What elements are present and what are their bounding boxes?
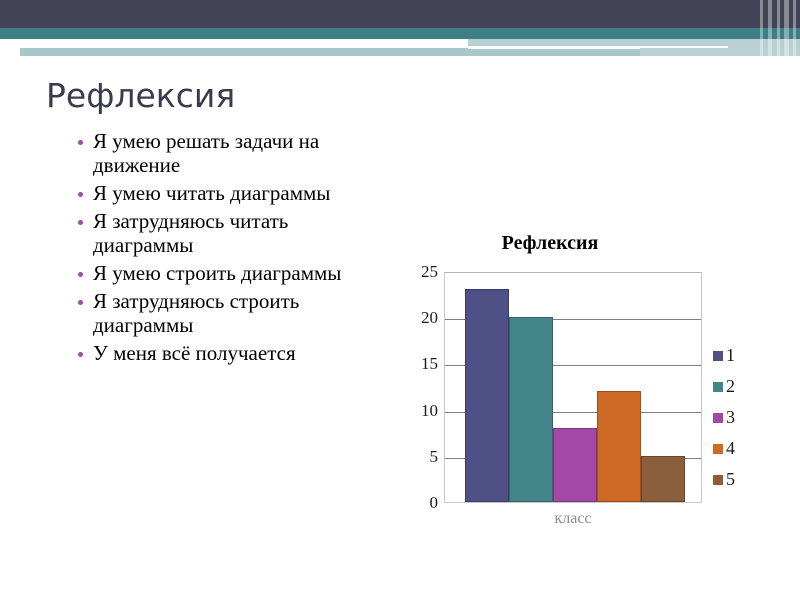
y-axis-tick-label: 20 [400, 308, 438, 328]
list-item-text: Я затрудняюсь читать диаграммы [93, 209, 288, 257]
list-item: Я затрудняюсь строить диаграммы [78, 290, 390, 338]
bullet-dot-icon [78, 300, 83, 305]
bullet-dot-icon [78, 220, 83, 225]
page-title: Рефлексия [46, 76, 235, 115]
list-item: У меня всё получается [78, 342, 390, 366]
x-axis-label: класс [444, 510, 702, 528]
header-band-pale-tail [640, 48, 800, 56]
legend-item: 1 [713, 340, 735, 371]
header-stripe-4 [784, 0, 789, 62]
header-band-bottom-white [0, 56, 740, 62]
legend-swatch [713, 475, 723, 485]
legend-label: 2 [726, 376, 735, 397]
header-band-white-strip [0, 39, 468, 48]
legend-swatch [713, 413, 723, 423]
chart-title: Рефлексия [400, 232, 700, 255]
bar [641, 456, 685, 502]
list-item-text: Я умею решать задачи на движение [93, 129, 319, 177]
legend-label: 5 [726, 469, 735, 490]
header-stripe-2 [768, 0, 772, 62]
legend-item: 3 [713, 402, 735, 433]
list-item-text: Я затрудняюсь строить диаграммы [93, 289, 299, 337]
y-axis-tick-label: 15 [400, 354, 438, 374]
header-stripe-5 [793, 0, 796, 62]
bar-series [445, 273, 701, 502]
bullet-dot-icon [78, 352, 83, 357]
bar [597, 391, 641, 502]
chart-plot-area [444, 272, 702, 503]
bar [465, 289, 509, 502]
list-item-text: Я умею строить диаграммы [93, 261, 341, 285]
legend-label: 4 [726, 438, 735, 459]
bullet-dot-icon [78, 192, 83, 197]
legend-swatch [713, 382, 723, 392]
header-stripe-3 [777, 0, 780, 62]
header-decoration [0, 0, 800, 62]
header-band-dark [0, 0, 800, 28]
y-axis-tick-label: 25 [400, 262, 438, 282]
legend-item: 2 [713, 371, 735, 402]
y-axis-tick-label: 0 [400, 493, 438, 513]
legend-label: 3 [726, 407, 735, 428]
chart-legend: 12345 [713, 340, 735, 495]
y-axis-tick-label: 5 [400, 447, 438, 467]
y-axis-tick-label: 10 [400, 401, 438, 421]
legend-swatch [713, 351, 723, 361]
legend-item: 5 [713, 464, 735, 495]
list-item-text: Я умею читать диаграммы [93, 181, 330, 205]
legend-swatch [713, 444, 723, 454]
legend-item: 4 [713, 433, 735, 464]
list-item: Я умею решать задачи на движение [78, 130, 390, 178]
list-item: Я затрудняюсь читать диаграммы [78, 210, 390, 258]
bullet-dot-icon [78, 272, 83, 277]
y-axis-ticks: 0510152025 [400, 272, 444, 503]
legend-label: 1 [726, 345, 735, 366]
bar [553, 428, 597, 502]
list-item-text: У меня всё получается [93, 341, 296, 365]
bar [509, 317, 553, 502]
list-item: Я умею читать диаграммы [78, 182, 390, 206]
list-item: Я умею строить диаграммы [78, 262, 390, 286]
bar-chart: Рефлексия 0510152025 класс 12345 [400, 228, 792, 544]
bullet-dot-icon [78, 140, 83, 145]
header-stripe-1 [760, 0, 763, 62]
bullet-list: Я умею решать задачи на движение Я умею … [78, 130, 390, 369]
